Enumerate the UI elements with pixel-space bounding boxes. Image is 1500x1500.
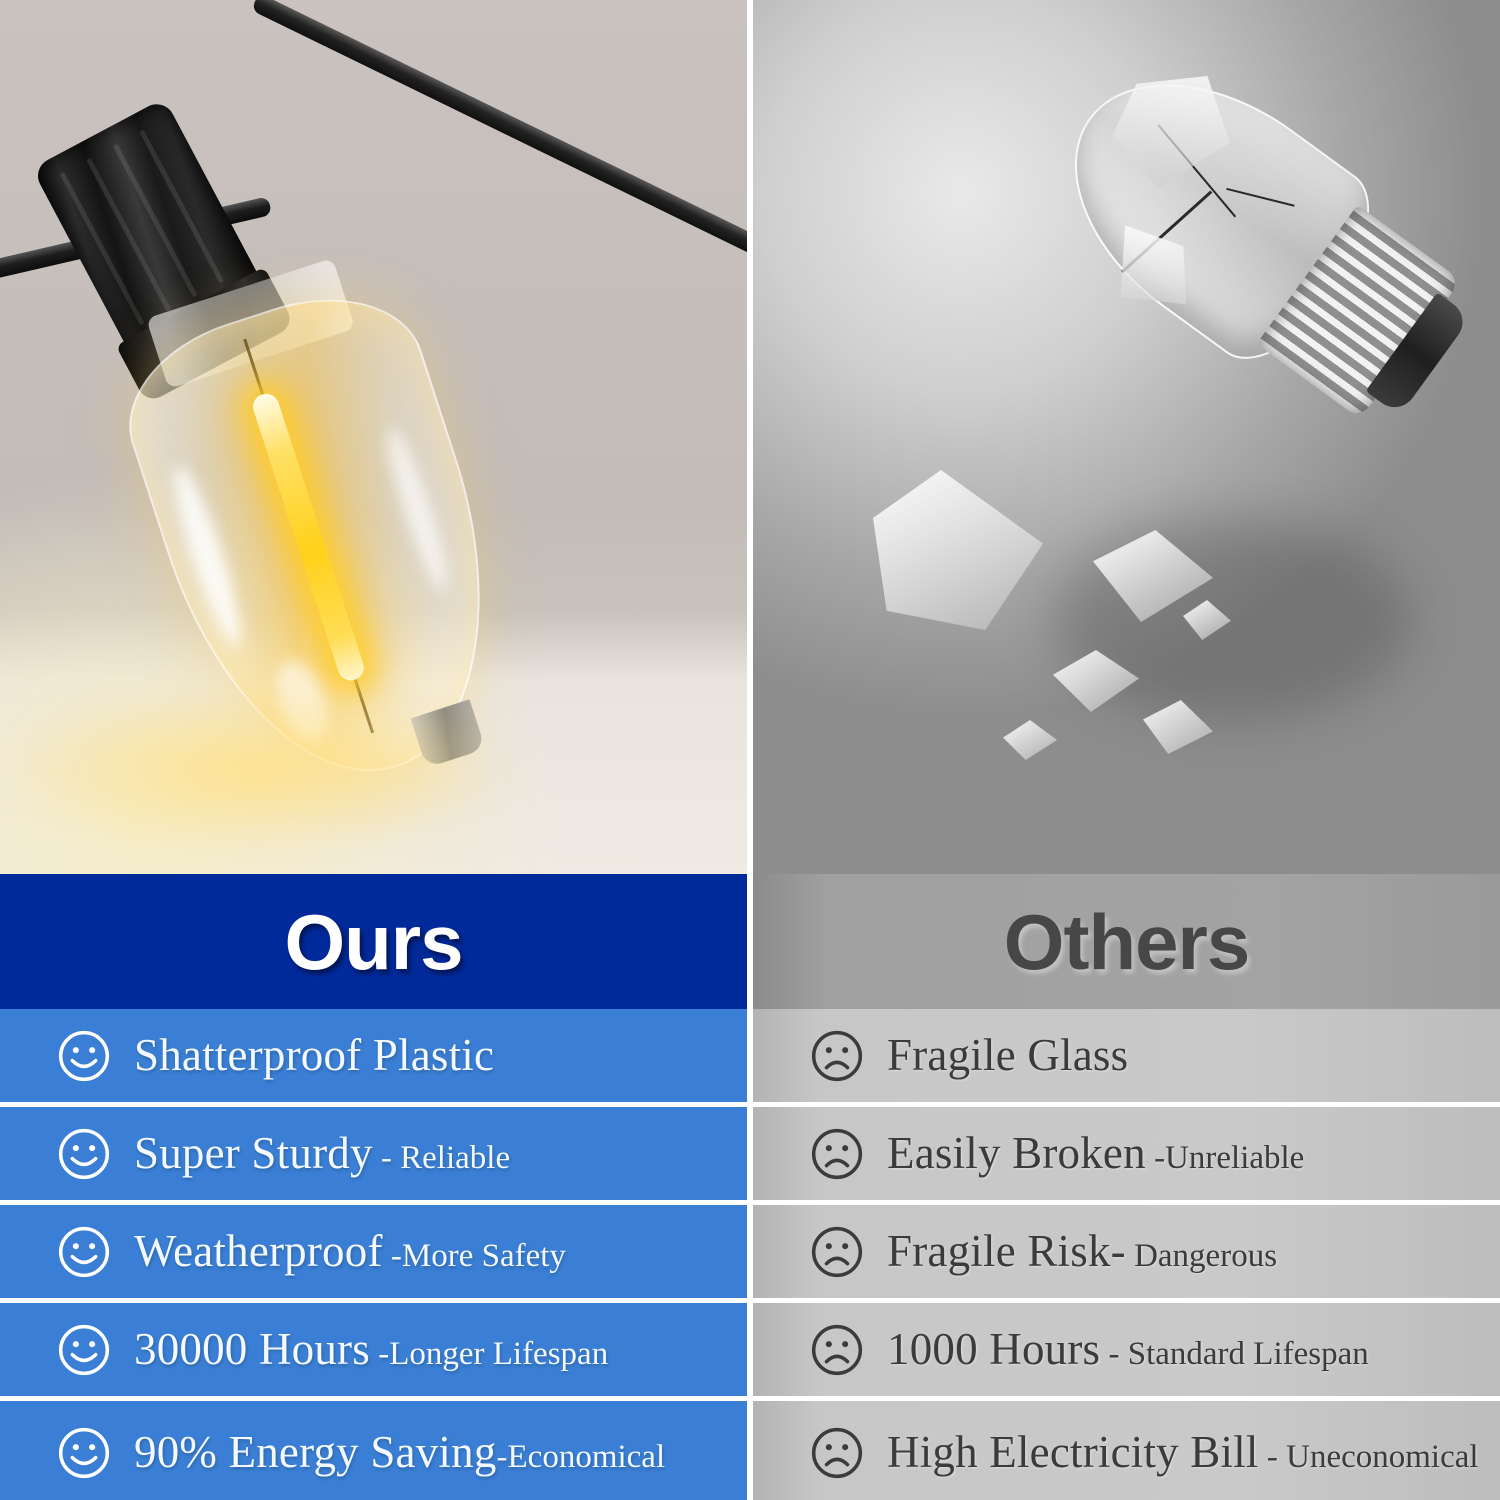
list-item: 30000 Hours -Longer Lifespan [0,1303,747,1396]
ours-column: Ours Shatterproof Plastic Supe [0,874,747,1500]
list-item: 90% Energy Saving-Economical [0,1401,747,1500]
broken-glass-bulb [960,0,1500,543]
comparison-infographic: Ours Shatterproof Plastic Supe [0,0,1500,1500]
sad-face-icon [809,1322,865,1378]
list-item: Weatherproof -More Safety [0,1205,747,1298]
list-item: Shatterproof Plastic [0,1009,747,1102]
list-item: 1000 Hours - Standard Lifespan [753,1303,1500,1396]
table-column-divider [747,874,753,1500]
feature-main-text: Fragile Glass [887,1030,1128,1080]
sad-face-icon [809,1126,865,1182]
feature-main-text: 1000 Hours [887,1324,1100,1374]
list-item: Fragile Risk- Dangerous [753,1205,1500,1298]
sad-face-icon [809,1425,865,1481]
list-item: Fragile Glass [753,1009,1500,1102]
photo-area [0,0,1500,874]
sad-face-icon [809,1224,865,1280]
list-item: Super Sturdy - Reliable [0,1107,747,1200]
feature-main-text: Fragile Risk- [887,1226,1126,1276]
smiley-face-icon [56,1224,112,1280]
feature-sub-text: -More Safety [383,1238,566,1274]
feature-main-text: 90% Energy Saving [134,1427,497,1477]
others-column: Others Fragile Glass Easily Br [753,874,1500,1500]
ours-title: Ours [0,903,747,981]
feature-comparison-table: Ours Shatterproof Plastic Supe [0,874,1500,1500]
smiley-face-icon [56,1028,112,1084]
smiley-face-icon [56,1126,112,1182]
ours-feature-list: Shatterproof Plastic Super Sturdy - Reli… [0,1009,747,1500]
ours-header-band: Ours [0,874,747,1009]
warm-light-pool [0,690,600,874]
feature-main-text: 30000 Hours [134,1324,370,1374]
others-product-photo [753,0,1500,874]
feature-sub-text: -Unreliable [1146,1140,1305,1176]
feature-sub-text: - Reliable [373,1140,510,1176]
feature-main-text: Super Sturdy [134,1128,373,1178]
feature-sub-text: - Standard Lifespan [1100,1336,1369,1372]
feature-main-text: Easily Broken [887,1128,1146,1178]
feature-main-text: Shatterproof Plastic [134,1030,494,1080]
ours-product-photo [0,0,747,874]
list-item: High Electricity Bill - Uneconomical [753,1401,1500,1500]
smiley-face-icon [56,1322,112,1378]
smiley-face-icon [56,1425,112,1481]
others-header-band: Others [753,874,1500,1009]
feature-sub-text: -Longer Lifespan [370,1336,608,1372]
feature-sub-text: -Economical [497,1439,666,1475]
feature-main-text: Weatherproof [134,1226,383,1276]
sad-face-icon [809,1028,865,1084]
list-item: Easily Broken -Unreliable [753,1107,1500,1200]
feature-main-text: High Electricity Bill [887,1427,1259,1477]
others-title: Others [753,903,1500,981]
others-feature-list: Fragile Glass Easily Broken -Unreliable [753,1009,1500,1500]
feature-sub-text: - Uneconomical [1259,1439,1479,1475]
string-light-cord-upper [251,0,747,256]
feature-sub-text: Dangerous [1126,1238,1277,1274]
photo-column-divider [747,0,753,874]
